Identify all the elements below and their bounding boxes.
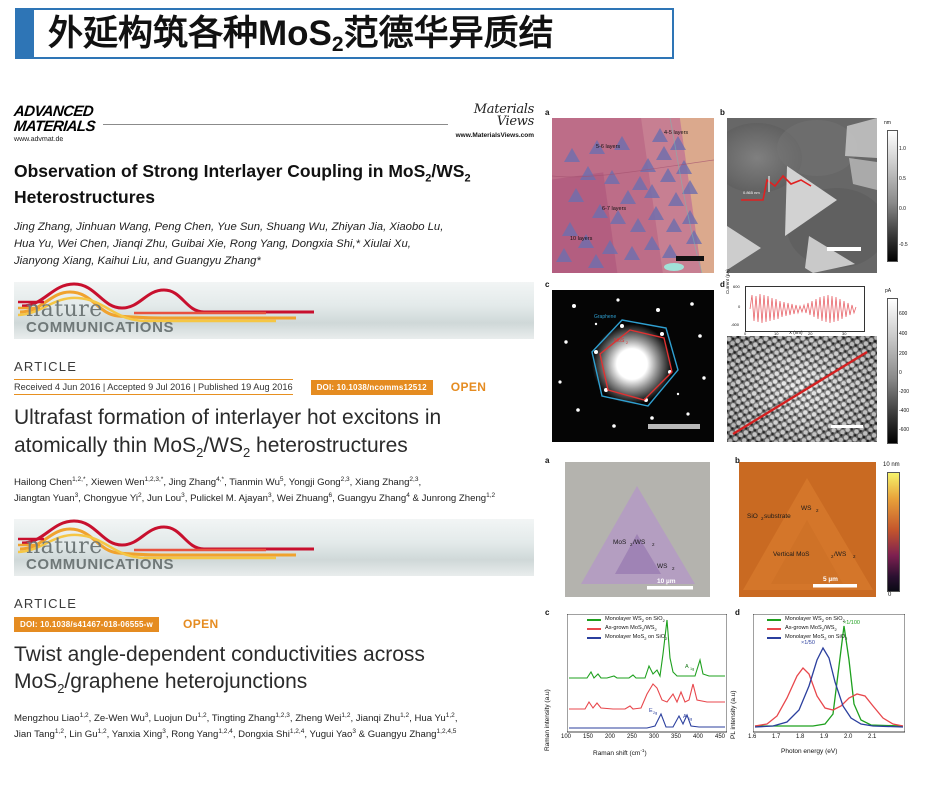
svg-text:WS: WS [801,505,812,512]
figure1-panel-b-colorbar [887,130,898,262]
papers-column: ADVANCED MATERIALS www.advmat.de Materia… [14,104,534,776]
paper1-authors-line3: Jianyong Xiang, Kaihui Liu, and Guangyu … [14,253,534,270]
figure1-panel-d-inset-ylabel: Current (pA) [725,250,730,294]
paper1-authors-line1: Jing Zhang, Jinhuan Wang, Peng Chen, Yue… [14,219,534,236]
figure2-panel-a-image: MoS 2 /WS 2 WS 2 10 µm [565,462,710,597]
paper3-kicker: ARTICLE [14,596,534,611]
figure1-panel-d-colorbar-tick-600: 600 [899,311,907,317]
svg-text:1g: 1g [688,717,692,721]
nature-wordmark-1: nature [26,300,174,320]
svg-text:MoS: MoS [613,539,627,546]
paper2-received-line: Received 4 Jun 2016 | Accepted 9 Jul 201… [14,379,293,395]
paper2-authors-line2: Jiangtan Yuan3, Chongyue Yi2, Jun Lou3, … [14,491,534,507]
pl-legend-swatch-2 [767,637,781,639]
pl-xtick-1-7: 1.7 [772,734,780,740]
svg-text:substrate: substrate [764,513,791,520]
paper1-authors-line2: Hua Yu, Wei Chen, Jianqi Zhu, Guibai Xie… [14,236,534,253]
svg-text:2g: 2g [653,711,657,715]
figure-1: a [543,108,935,448]
communications-wordmark-2: COMMUNICATIONS [26,557,174,572]
figure1-panel-d-colorbar-tick-neg400: -400 [899,408,909,414]
figure1-panel-a-label-10: 10 layers [570,236,592,242]
svg-text:A: A [683,714,687,720]
nature-communications-banner-1: nature COMMUNICATIONS [14,282,534,339]
raman-legend: Monolayer WS2 on SiO2 As-grown MoS2/WS2 … [587,616,667,643]
figures-column: a [543,108,935,786]
figure1-panel-a-image: 4-5 layers 5-6 layers 6-7 layers 10 laye… [552,118,714,273]
paper2-author-list: Hailong Chen1,2,*, Xiewen Wen1,2,3,*, Ji… [14,475,534,507]
nature-communications-banner-2: nature COMMUNICATIONS [14,519,534,576]
pl-legend-item-2: Monolayer MoS2 on SiO2 [767,634,847,641]
pl-legend-label-2: Monolayer MoS2 on SiO2 [785,634,847,641]
svg-text:MoS: MoS [614,338,625,344]
figure1-panel-a-triangles [552,118,714,273]
figure2-panel-c-letter: c [545,608,549,617]
paper3-open-access-tag: OPEN [183,617,219,631]
figure1-panel-a-label-45: 4-5 layers [664,130,688,136]
pl-legend-label-0: Monolayer WS2 on SiO2 [785,616,845,623]
raman-xtick-200: 200 [605,734,615,740]
pl-xtick-1-9: 1.9 [820,734,828,740]
paper1-title-sub2: 2 [464,173,470,185]
figure1-panel-a-label-56: 5-6 layers [596,144,620,150]
paper1-title-part3: Heterostructures [14,187,155,207]
paper2-kicker: ARTICLE [14,359,534,374]
figure2-panel-b-colorbar-bottom-label: 0 [888,592,891,598]
figure1-panel-a-label-67: 6-7 layers [602,206,626,212]
paper2-open-access-tag: OPEN [451,380,487,394]
pl-legend-label-1: As-grown MoS2/WS2 [785,625,837,632]
figure1-panel-d-colorbar-tick-0: 0 [899,370,902,376]
figure1-panel-c-diffraction-graphic: Graphene MoS 2 [552,290,714,442]
raman-legend-item-0: Monolayer WS2 on SiO2 [587,616,667,623]
paper1-title: Observation of Strong Interlayer Couplin… [14,160,534,208]
paper2-authors-line1: Hailong Chen1,2,*, Xiewen Wen1,2,3,*, Ji… [14,475,534,491]
figure2-panel-b-image: SiO 2 substrate WS 2 Vertical MoS 2 /WS … [739,462,876,597]
raman-legend-item-1: As-grown MoS2/WS2 [587,625,667,632]
paper3-title: Twist angle-dependent conductivities acr… [14,641,534,698]
pl-xtick-1-8: 1.8 [796,734,804,740]
paper3-title-line2a: MoS [14,670,57,693]
raman-legend-item-2: Monolayer MoS2 on SiO2 [587,634,667,641]
figure1-panel-d-colorbar-unit: pA [885,288,891,294]
raman-legend-label-1: As-grown MoS2/WS2 [605,625,657,632]
figure1-panel-d-inset-ytick-neg600: -600 [731,322,739,327]
title-subscript: 2 [332,33,344,56]
svg-text:/WS: /WS [633,539,646,546]
figure1-panel-b-colorbar-tick-2: 0.5 [899,176,906,182]
figure1-panel-d-colorbar-tick-400: 400 [899,331,907,337]
figure2-panel-a-letter: a [545,456,549,465]
figure1-panel-d-image [727,336,877,442]
materials-views-logo: Materials Views www.MaterialsViews.com [456,104,534,139]
paper3-meta-row: DOI: 10.1038/s41467-018-06555-w OPEN [14,617,534,632]
figure1-panel-d-colorbar-tick-200: 200 [899,351,907,357]
figure1-panel-b-colorbar-unit: nm [884,120,891,126]
svg-text:1g: 1g [690,667,694,671]
paper2-title-line2a: atomically thin MoS [14,434,196,457]
pl-legend-swatch-1 [767,628,781,630]
pl-legend-swatch-0 [767,619,781,621]
figure2-panel-b-letter: b [735,456,740,465]
svg-text:Graphene: Graphene [594,314,616,320]
paper2-title-line1: Ultrafast formation of interlayer hot ex… [14,406,441,429]
paper3-title-line1: Twist angle-dependent conductivities acr… [14,643,425,666]
figure2-panel-b-colorbar [887,472,900,592]
slide-title-bar: 外延构筑各种MoS2范德华异质结 [15,8,674,59]
figure1-panel-d-inset-plot [745,286,865,332]
pl-chart: PL intensity (a.u) ×1/100 ×1/50 Monolaye… [739,614,919,774]
figure1-panel-d-inset-ytick-0: 0 [738,304,740,309]
paper1-title-part1: Observation of Strong Interlayer Couplin… [14,161,425,181]
pl-ylabel: PL intensity (a.u) [730,690,737,739]
figure1-panel-d-colorbar-tick-neg600: -600 [899,427,909,433]
mv-logo-line2: Views [470,116,534,128]
paper3-doi-badge[interactable]: DOI: 10.1038/s41467-018-06555-w [14,617,159,632]
paper2-doi-badge[interactable]: DOI: 10.1038/ncomms12512 [311,380,433,395]
raman-xtick-300: 300 [649,734,659,740]
figure1-panel-d-scalebar [831,425,863,428]
raman-xtick-150: 150 [583,734,593,740]
nature-banner-text-1: nature COMMUNICATIONS [26,300,174,335]
pl-xtick-2-0: 2.0 [844,734,852,740]
paper-ncomms-06555: nature COMMUNICATIONS ARTICLE DOI: 10.10… [14,519,534,743]
figure1-panel-b-letter: b [720,108,725,117]
paper2-title-line2b: /WS [203,434,243,457]
svg-text:WS: WS [657,563,668,570]
figure1-panel-b-image: 0.865 nm [727,118,877,273]
paper1-author-list: Jing Zhang, Jinhuan Wang, Peng Chen, Yue… [14,219,534,270]
pl-legend: Monolayer WS2 on SiO2 As-grown MoS2/WS2 … [767,616,847,643]
figure1-panel-d-colorbar-tick-neg200: -200 [899,389,909,395]
figure1-panel-b-colorbar-tick-4: -0.5 [899,242,908,248]
page-title: 外延构筑各种MoS2范德华异质结 [34,16,554,51]
paper3-authors-line1: Mengzhou Liao1,2, Ze-Wen Wu3, Luojun Du1… [14,711,534,727]
svg-text:10 µm: 10 µm [657,578,676,585]
svg-text:A: A [685,664,689,670]
pl-xlabel: Photon energy (eV) [781,748,837,755]
figure1-panel-b-scalebar [827,247,861,251]
svg-text:5 µm: 5 µm [823,576,838,583]
figure1-panel-d-inset-trace [746,287,864,331]
figure2-panel-a-graphic: MoS 2 /WS 2 WS 2 10 µm [565,462,710,597]
paper2-meta-row: Received 4 Jun 2016 | Accepted 9 Jul 201… [14,379,534,395]
figure1-panel-d-letter: d [720,280,725,289]
raman-ylabel: Raman intensity (a.u) [544,689,551,751]
raman-xtick-350: 350 [671,734,681,740]
am-logo-line1: ADVANCED [13,104,96,119]
paper3-authors-line2: Jian Tang1,2, Lin Gu1,2, Yanxia Xing3, R… [14,727,534,743]
journal-header-advanced-materials: ADVANCED MATERIALS www.advmat.de Materia… [14,104,534,150]
title-tail-text: 范德华异质结 [344,14,554,53]
paper2-title: Ultrafast formation of interlayer hot ex… [14,404,534,461]
nature-banner-text-2: nature COMMUNICATIONS [26,537,174,572]
pl-xtick-2-1: 2.1 [868,734,876,740]
figure1-panel-a-letter: a [545,108,549,117]
raman-xtick-100: 100 [561,734,571,740]
figure1-panel-b-colorbar-tick-1: 1.0 [899,146,906,152]
nature-wordmark-2: nature [26,537,174,557]
svg-text:2: 2 [626,341,628,345]
raman-legend-label-0: Monolayer WS2 on SiO2 [605,616,665,623]
am-journal-url: www.advmat.de [14,136,96,143]
communications-wordmark-1: COMMUNICATIONS [26,320,174,335]
figure1-panel-c-letter: c [545,280,549,289]
figure1-panel-c-image: Graphene MoS 2 [552,290,714,442]
svg-text:SiO: SiO [747,513,758,520]
svg-text:/WS: /WS [834,551,847,558]
figure1-panel-d-inset-xlabel: X (nm) [789,330,803,335]
raman-legend-swatch-2 [587,637,601,639]
svg-text:0.865 nm: 0.865 nm [743,190,760,195]
paper2-title-line2c: heterostructures [250,434,408,457]
raman-xlabel: Raman shift (cm-1) [593,748,647,757]
raman-xtick-450: 450 [715,734,725,740]
figure-2: a MoS 2 /WS 2 WS 2 10 µm b SiO [543,456,935,786]
raman-chart: Raman intensity (a.u) A 1g E 2g A 1g M [553,614,728,774]
figure1-panel-a-scalebar [676,256,704,261]
paper1-title-part2: /WS [431,161,464,181]
figure2-panel-b-graphic: SiO 2 substrate WS 2 Vertical MoS 2 /WS … [739,462,876,597]
title-main-text: 外延构筑各种MoS [48,14,332,53]
raman-legend-swatch-1 [587,628,601,630]
mv-url: www.MaterialsViews.com [456,132,534,139]
raman-xtick-250: 250 [627,734,637,740]
figure2-panel-d-letter: d [735,608,740,617]
paper-ncomms-12512: nature COMMUNICATIONS ARTICLE Received 4… [14,282,534,506]
raman-xtick-400: 400 [693,734,703,740]
pl-legend-item-0: Monolayer WS2 on SiO2 [767,616,847,623]
paper3-author-list: Mengzhou Liao1,2, Ze-Wen Wu3, Luojun Du1… [14,711,534,743]
figure1-panel-d-inset-ytick-600: 600 [733,284,740,289]
paper3-title-line2b: /graphene heterojunctions [64,670,307,693]
pl-legend-item-1: As-grown MoS2/WS2 [767,625,847,632]
raman-legend-label-2: Monolayer MoS2 on SiO2 [605,634,667,641]
raman-legend-swatch-0 [587,619,601,621]
figure2-panel-b-colorbar-top-label: 10 nm [883,462,900,468]
paper-advanced-materials: ADVANCED MATERIALS www.advmat.de Materia… [14,104,534,270]
header-divider-rule [103,104,448,125]
figure1-panel-b-colorbar-tick-3: 0.0 [899,206,906,212]
advanced-materials-logo: ADVANCED MATERIALS www.advmat.de [14,104,95,143]
pl-xtick-1-6: 1.6 [748,734,756,740]
figure1-panel-d-colorbar [887,298,898,444]
am-logo-line2: MATERIALS [13,119,96,134]
title-accent-block [17,10,34,57]
svg-text:Vertical MoS: Vertical MoS [773,551,810,558]
